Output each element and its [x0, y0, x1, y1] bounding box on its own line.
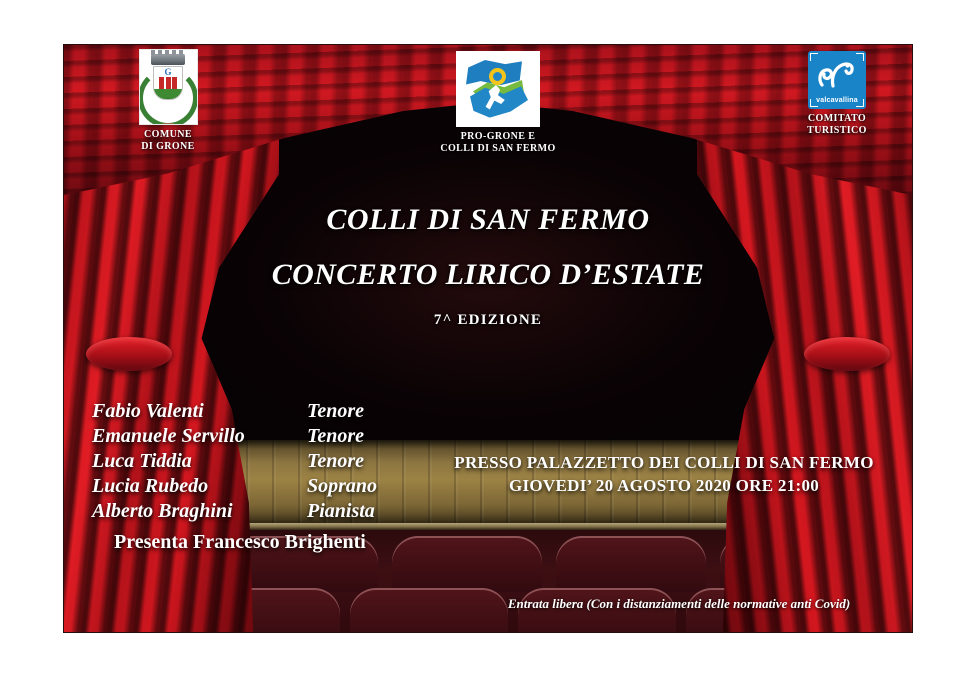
curtain-tieback-left: [86, 337, 172, 371]
cast-name: Fabio Valenti: [92, 400, 307, 423]
presenter-line: Presenta Francesco Brighenti: [114, 531, 377, 554]
pro-grone-logo-icon: [456, 51, 540, 127]
cast-row: Fabio Valenti Tenore: [92, 400, 377, 423]
cast-role: Pianista: [307, 500, 375, 523]
logo-caption-pro-grone: PRO-GRONE E COLLI DI SAN FERMO: [438, 131, 558, 155]
cast-role: Soprano: [307, 475, 377, 498]
logo-pro-grone: PRO-GRONE E COLLI DI SAN FERMO: [438, 51, 558, 155]
cast-row: Lucia Rubedo Soprano: [92, 475, 377, 498]
valcavallina-mark-icon: [816, 59, 858, 91]
poster-edition-group: 7^ EDIZIONE: [64, 312, 912, 329]
logo-comune-di-grone: G COMUNE DI GRONE: [118, 49, 218, 153]
venue-block: PRESSO PALAZZETTO DEI COLLI DI SAN FERMO…: [424, 452, 904, 498]
cast-list: Fabio Valenti Tenore Emanuele Servillo T…: [92, 400, 377, 554]
grone-coat-of-arms-icon: G: [139, 49, 198, 125]
poster-title-group: COLLI DI SAN FERMO: [64, 203, 912, 237]
logo-caption-comitato: COMITATO TURISTICO: [782, 113, 892, 137]
cast-row: Emanuele Servillo Tenore: [92, 425, 377, 448]
concert-poster: G COMUNE DI GRONE PRO-GRONE E COLLI DI S…: [64, 45, 912, 632]
cast-name: Alberto Braghini: [92, 500, 307, 523]
cast-role: Tenore: [307, 400, 364, 423]
title-line-2: CONCERTO LIRICO D’ESTATE: [64, 258, 912, 292]
cast-row: Alberto Braghini Pianista: [92, 500, 377, 523]
crest-letter: G: [154, 67, 182, 77]
logo-caption-comune: COMUNE DI GRONE: [118, 129, 218, 153]
cast-name: Lucia Rubedo: [92, 475, 307, 498]
entry-notice: Entrata libera (Con i distanziamenti del…: [464, 596, 894, 612]
curtain-tieback-right: [804, 337, 890, 371]
cast-role: Tenore: [307, 450, 364, 473]
title-line-1: COLLI DI SAN FERMO: [64, 203, 912, 237]
valcavallina-logo-icon: valcavallina: [808, 51, 866, 109]
title-edition: 7^ EDIZIONE: [64, 312, 912, 329]
cast-name: Luca Tiddia: [92, 450, 307, 473]
venue-datetime: GIOVEDI’ 20 AGOSTO 2020 ORE 21:00: [424, 475, 904, 498]
cast-name: Emanuele Servillo: [92, 425, 307, 448]
logo-comitato-turistico: valcavallina COMITATO TURISTICO: [782, 51, 892, 137]
cast-row: Luca Tiddia Tenore: [92, 450, 377, 473]
cast-role: Tenore: [307, 425, 364, 448]
venue-place: PRESSO PALAZZETTO DEI COLLI DI SAN FERMO: [424, 452, 904, 475]
poster-canvas: G COMUNE DI GRONE PRO-GRONE E COLLI DI S…: [0, 0, 960, 678]
poster-subtitle-group: CONCERTO LIRICO D’ESTATE: [64, 258, 912, 292]
